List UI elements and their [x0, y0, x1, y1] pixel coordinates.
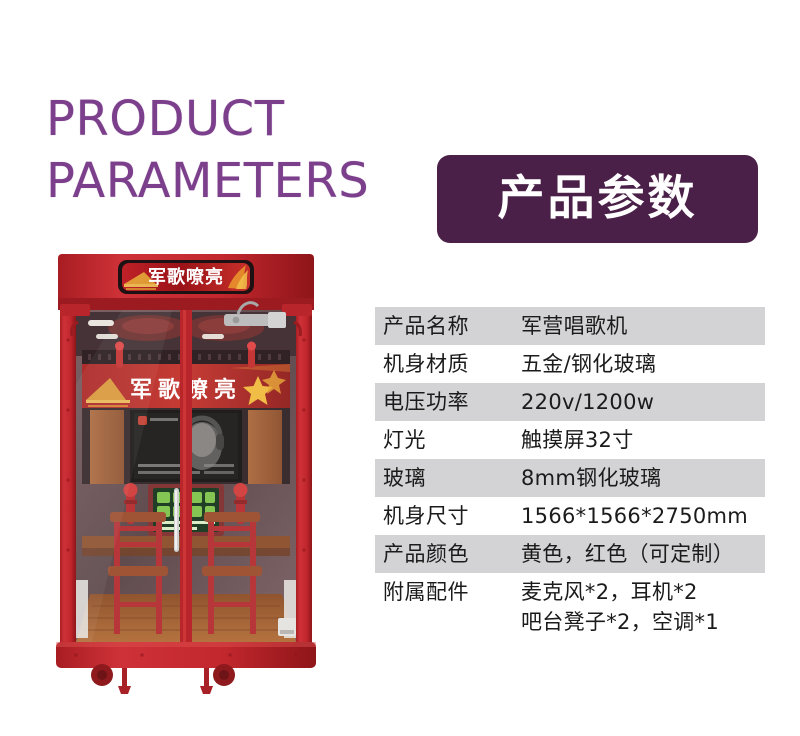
spec-value: 军营唱歌机: [521, 311, 765, 341]
leveling-foot: [118, 668, 131, 694]
spec-value: 220v/1200w: [521, 387, 765, 417]
leveling-foot: [200, 668, 213, 694]
table-row: 机身尺寸 1566*1566*2750mm: [375, 497, 765, 535]
page-title: PRODUCT PARAMETERS: [46, 88, 446, 212]
table-row: 附属配件 麦克风*2，耳机*2 吧台凳子*2，空调*1: [375, 573, 765, 641]
spec-label: 灯光: [383, 425, 521, 455]
page-title-line-2: PARAMETERS: [46, 150, 446, 212]
table-row: 产品颜色 黄色，红色（可定制）: [375, 535, 765, 573]
section-badge: 产品参数: [437, 155, 758, 243]
svg-text:军歌嘹亮: 军歌嘹亮: [148, 266, 224, 288]
spec-label: 附属配件: [383, 577, 521, 607]
spec-label: 机身尺寸: [383, 501, 521, 531]
spec-label: 电压功率: [383, 387, 521, 417]
spec-value: 黄色，红色（可定制）: [521, 539, 765, 569]
spec-label: 玻璃: [383, 463, 521, 493]
spec-label: 机身材质: [383, 349, 521, 379]
spec-value-line-1: 麦克风*2，耳机*2: [521, 577, 765, 607]
caster-wheel: [91, 664, 113, 686]
spec-value: 8mm钢化玻璃: [521, 463, 765, 493]
table-row: 产品名称 军营唱歌机: [375, 307, 765, 345]
spec-value: 五金/钢化玻璃: [521, 349, 765, 379]
caster-wheel: [213, 664, 235, 686]
booth-base: [56, 642, 316, 694]
section-badge-label: 产品参数: [498, 175, 698, 222]
spec-value: 麦克风*2，耳机*2 吧台凳子*2，空调*1: [521, 577, 765, 637]
spec-value-line-2: 吧台凳子*2，空调*1: [521, 607, 765, 637]
spec-value: 触摸屏32寸: [521, 425, 765, 455]
product-parameters-table: 产品名称 军营唱歌机 机身材质 五金/钢化玻璃 电压功率 220v/1200w …: [375, 307, 765, 641]
table-row: 灯光 触摸屏32寸: [375, 421, 765, 459]
table-row: 机身材质 五金/钢化玻璃: [375, 345, 765, 383]
spec-label: 产品名称: [383, 311, 521, 341]
spec-label: 产品颜色: [383, 539, 521, 569]
table-row: 电压功率 220v/1200w: [375, 383, 765, 421]
spec-value: 1566*1566*2750mm: [521, 501, 765, 531]
booth-top-cabinet: 军歌嘹亮: [58, 254, 314, 310]
product-photo-karaoke-booth: 军歌嘹亮: [52, 250, 320, 702]
page-title-line-1: PRODUCT: [46, 88, 446, 150]
table-row: 玻璃 8mm钢化玻璃: [375, 459, 765, 497]
